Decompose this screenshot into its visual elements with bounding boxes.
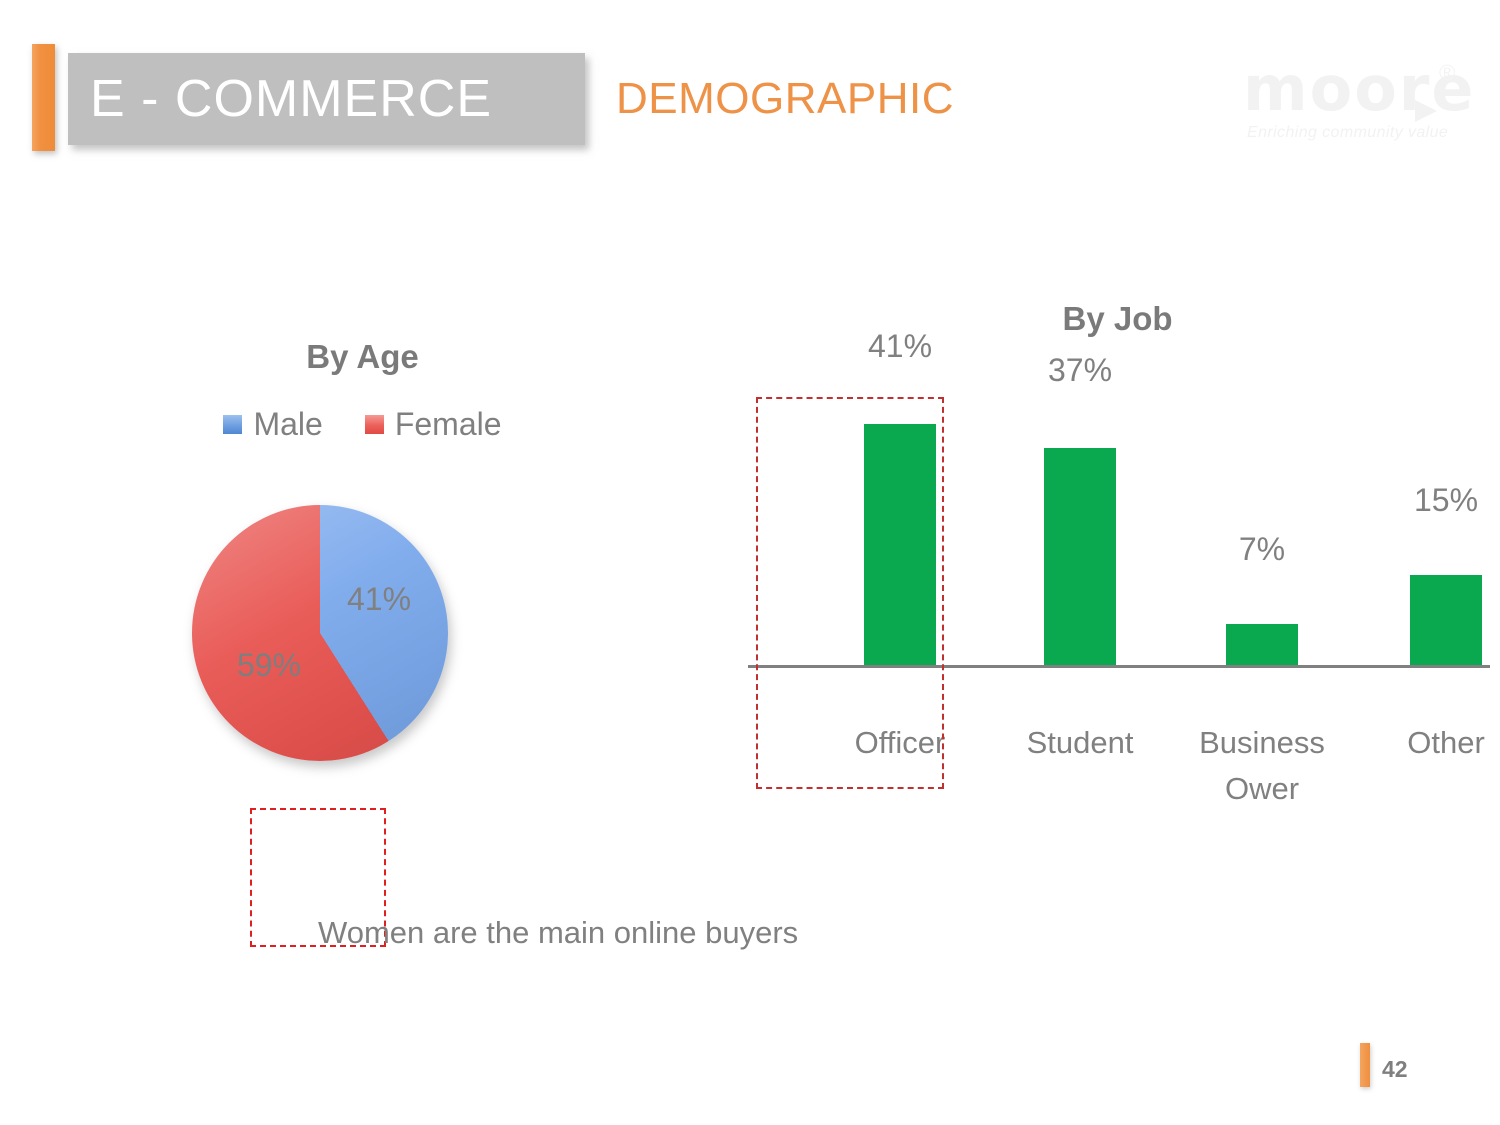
arrow-icon <box>1415 100 1437 122</box>
legend-label-male: Male <box>253 408 322 440</box>
page-subtitle: DEMOGRAPHIC <box>616 68 954 130</box>
legend-item-male: Male <box>223 408 322 440</box>
bar-value-student: 37% <box>1010 352 1150 389</box>
bar-rect-business-owner <box>1226 624 1298 665</box>
page-number: 42 <box>1382 1056 1408 1083</box>
pie-slices <box>192 505 448 761</box>
by-age-chart-title: By Age <box>170 338 555 376</box>
pie-value-label-female: 59% <box>224 647 314 684</box>
footer-accent-bar <box>1360 1043 1370 1087</box>
bar-value-other: 15% <box>1376 482 1500 519</box>
by-job-chart: By Job 41% Officer 37% Student 7% Busine… <box>745 290 1490 800</box>
legend-swatch-male <box>223 415 242 434</box>
bar-rect-other <box>1410 575 1482 665</box>
bar-value-officer: 41% <box>830 328 970 365</box>
page-title: E - COMMERCE <box>90 62 580 136</box>
pie-value-label-male: 41% <box>334 581 424 618</box>
bar-group-other: 15% Other <box>1366 332 1500 665</box>
header-accent-bar <box>32 44 55 151</box>
by-age-legend: Male Female <box>170 408 555 440</box>
bar-group-student: 37% Student <box>1000 332 1160 665</box>
bar-highlight-annotation <box>756 397 944 789</box>
by-age-chart: By Age Male Female 41% 59% <box>170 330 590 810</box>
bar-group-business-owner: 7% Business Ower <box>1182 332 1342 665</box>
bar-value-business-owner: 7% <box>1192 531 1332 568</box>
insight-caption: Women are the main online buyers <box>318 915 798 951</box>
by-age-pie-graphic: 41% 59% <box>192 505 448 761</box>
bar-rect-student <box>1044 448 1116 665</box>
legend-label-female: Female <box>395 408 502 440</box>
registered-trademark-icon: ® <box>1439 62 1455 84</box>
bar-category-label-other: Other <box>1351 720 1500 766</box>
bar-category-label-student: Student <box>985 720 1175 766</box>
legend-item-female: Female <box>365 408 502 440</box>
bar-category-label-business-owner: Business Ower <box>1167 720 1357 812</box>
brand-logo: moore ® Enriching community value <box>1243 58 1468 150</box>
by-job-plot-area: 41% Officer 37% Student 7% Business Ower… <box>745 335 1490 668</box>
brand-logo-tagline: Enriching community value <box>1247 124 1448 142</box>
legend-swatch-female <box>365 415 384 434</box>
